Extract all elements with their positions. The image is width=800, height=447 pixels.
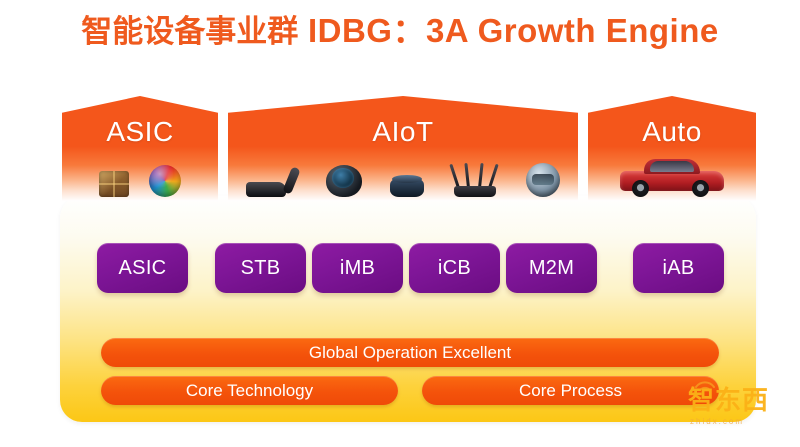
panel-asic-label: ASIC bbox=[62, 116, 218, 148]
page-title-en: IDBG：3A Growth Engine bbox=[308, 12, 719, 49]
panel-asic[interactable]: ASIC bbox=[62, 96, 218, 201]
chip-asic[interactable]: ASIC bbox=[97, 243, 188, 293]
chip-m2m[interactable]: M2M bbox=[506, 243, 597, 293]
chip-iab[interactable]: iAB bbox=[633, 243, 724, 293]
smart-speaker-icon bbox=[390, 175, 424, 197]
panel-aiot-label: AIoT bbox=[228, 116, 578, 148]
router-icon bbox=[452, 161, 498, 197]
bar-core-process[interactable]: Core Process bbox=[422, 376, 719, 405]
smart-display-icon bbox=[326, 163, 362, 197]
panel-auto[interactable]: Auto bbox=[588, 96, 756, 201]
chip-stb[interactable]: STB bbox=[215, 243, 306, 293]
chip-icon bbox=[99, 171, 129, 197]
category-panels: ASIC AIoT bbox=[0, 96, 800, 201]
panel-aiot[interactable]: AIoT bbox=[228, 96, 578, 201]
panel-auto-label: Auto bbox=[588, 116, 756, 148]
chip-imb[interactable]: iMB bbox=[312, 243, 403, 293]
wafer-icon bbox=[149, 165, 181, 197]
car-icon bbox=[620, 157, 724, 197]
page-title-cn: 智能设备事业群 bbox=[81, 14, 298, 50]
watermark-domain: zhidx.com bbox=[690, 417, 794, 426]
watermark-glyphs: 智东西 bbox=[688, 384, 792, 418]
panel-aiot-icons bbox=[228, 153, 578, 197]
bar-core-technology[interactable]: Core Technology bbox=[101, 376, 398, 405]
panel-asic-icons bbox=[62, 153, 218, 197]
chip-icb[interactable]: iCB bbox=[409, 243, 500, 293]
panel-auto-icons bbox=[588, 153, 756, 197]
watermark-zhidx: 智东西 zhidx.com bbox=[688, 382, 792, 438]
slide-root: 智能设备事业群 IDBG：3A Growth Engine ASIC AIoT bbox=[0, 0, 800, 447]
page-title: 智能设备事业群 IDBG：3A Growth Engine bbox=[0, 8, 800, 55]
robot-vacuum-icon bbox=[526, 163, 560, 197]
bar-global-operation[interactable]: Global Operation Excellent bbox=[101, 338, 719, 367]
set-top-box-icon bbox=[246, 167, 298, 197]
